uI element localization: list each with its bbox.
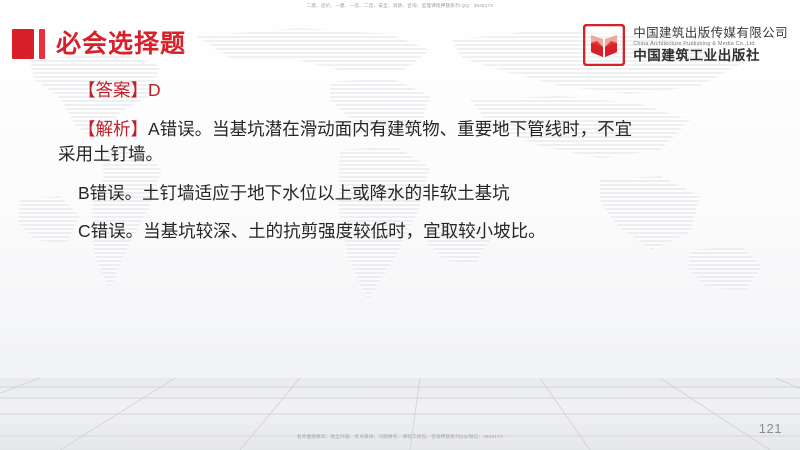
top-watermark-text: 二建、造价、一建、一造、二造、安全、消防、咨询、监理课程押题系列 QQ：3649… (0, 3, 800, 9)
slide-root: 二建、造价、一建、一造、二造、安全、消防、咨询、监理课程押题系列 QQ：3649… (0, 0, 800, 450)
page-title: 必会选择题 (56, 29, 186, 59)
slide-content: 【答案】D 【解析】A错误。当基坑潜在滑动面内有建筑物、重要地下管线时，不宜 采… (0, 78, 800, 244)
option-c-line: C错误。当基坑较深、土的抗剪强度较低时，宜取较小坡比。 (0, 219, 800, 244)
page-number: 121 (759, 421, 782, 436)
slide-title-group: 必会选择题 (12, 28, 186, 60)
answer-value: D (148, 80, 161, 100)
title-accent-bar (39, 29, 45, 59)
publisher-logo: 中国建筑出版传媒有限公司 China Architecture Publishi… (583, 24, 788, 66)
analysis-line-2: 采用土钉墙。 (0, 142, 800, 167)
book-emblem-icon (583, 24, 625, 66)
answer-label: 【答案】 (78, 80, 148, 100)
analysis-label: 【解析】 (78, 119, 148, 139)
option-b-text: B错误。土钉墙适应于地下水位以上或降水的非软土基坑 (78, 183, 510, 203)
analysis-line-1: 【解析】A错误。当基坑潜在滑动面内有建筑物、重要地下管线时，不宜 (0, 117, 800, 142)
option-b-line: B错误。土钉墙适应于地下水位以上或降水的非软土基坑 (0, 181, 800, 206)
option-c-text: C错误。当基坑较深、土的抗剪强度较低时，宜取较小坡比。 (78, 221, 546, 241)
logo-press-cn: 中国建筑工业出版社 (633, 48, 788, 65)
title-accent-block (12, 29, 34, 59)
logo-company-en: China Architecture Publishing & Media Co… (633, 40, 788, 48)
publisher-logo-text: 中国建筑出版传媒有限公司 China Architecture Publishi… (633, 26, 788, 65)
answer-line: 【答案】D (0, 78, 800, 103)
bottom-watermark-text: 名师面授精华、类全内容、考点串讲、习题精考、课程工具包、咨询押题系列QQ/微信：… (0, 434, 800, 440)
analysis-text-2: 采用土钉墙。 (58, 144, 163, 164)
analysis-text-1: A错误。当基坑潜在滑动面内有建筑物、重要地下管线时，不宜 (148, 119, 632, 139)
logo-company-cn: 中国建筑出版传媒有限公司 (633, 26, 788, 40)
